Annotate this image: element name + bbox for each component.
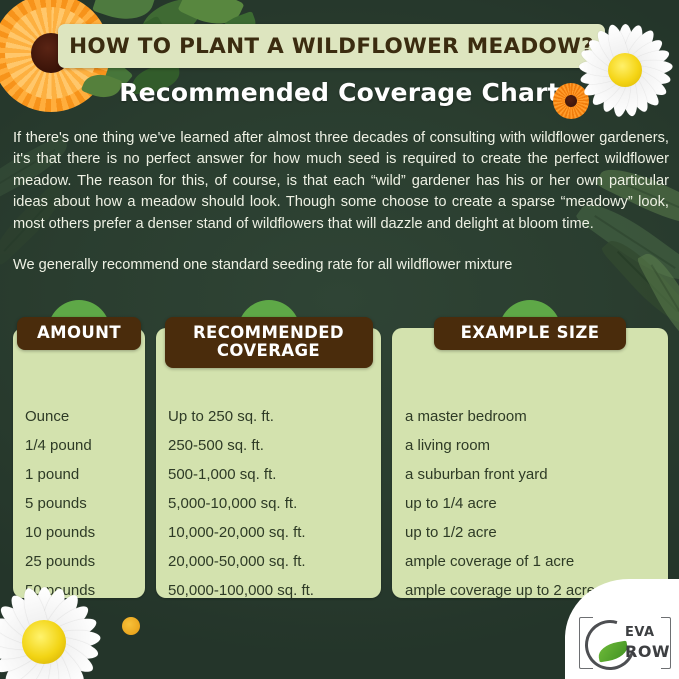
- table-cell: ample coverage of 1 acre: [405, 547, 656, 576]
- column-panel: a master bedroom a living room a suburba…: [392, 328, 668, 598]
- table-cell: 1/4 pound: [25, 431, 133, 460]
- infographic-root: HOW TO PLANT A WILDFLOWER MEADOW? Recomm…: [0, 0, 679, 679]
- table-cell: 10 pounds: [25, 518, 133, 547]
- column-cells: Up to 250 sq. ft. 250-500 sq. ft. 500-1,…: [156, 402, 381, 605]
- column-panel: Ounce 1/4 pound 1 pound 5 pounds 10 poun…: [13, 328, 145, 598]
- table-cell: Up to 250 sq. ft.: [168, 402, 369, 431]
- table-column-example: a master bedroom a living room a suburba…: [392, 300, 668, 598]
- table-column-coverage: Up to 250 sq. ft. 250-500 sq. ft. 500-1,…: [156, 300, 381, 598]
- intro-paragraph-1: If there's one thing we've learned after…: [13, 128, 669, 235]
- table-cell: 50 pounds: [25, 576, 133, 605]
- subtitle-row: Recommended Coverage Chart: [0, 78, 679, 107]
- table-cell: 10,000-20,000 sq. ft.: [168, 518, 369, 547]
- coverage-table: Ounce 1/4 pound 1 pound 5 pounds 10 poun…: [13, 300, 668, 598]
- intro-text: If there's one thing we've learned after…: [13, 128, 669, 276]
- logo-text-top: EVA: [625, 625, 655, 640]
- eva-grow-logo[interactable]: EVA ROW: [579, 617, 671, 669]
- table-cell: up to 1/4 acre: [405, 489, 656, 518]
- page-subtitle: Recommended Coverage Chart: [119, 78, 560, 107]
- column-panel: Up to 250 sq. ft. 250-500 sq. ft. 500-1,…: [156, 328, 381, 598]
- column-header-coverage: RECOMMENDED COVERAGE: [165, 317, 373, 368]
- logo-text-bottom: ROW: [625, 642, 670, 661]
- table-cell: 5,000-10,000 sq. ft.: [168, 489, 369, 518]
- column-cells: a master bedroom a living room a suburba…: [392, 402, 668, 605]
- table-cell: a suburban front yard: [405, 460, 656, 489]
- intro-paragraph-2: We generally recommend one standard seed…: [13, 255, 669, 276]
- table-cell: 25 pounds: [25, 547, 133, 576]
- table-cell: 50,000-100,000 sq. ft.: [168, 576, 369, 605]
- table-cell: a living room: [405, 431, 656, 460]
- table-cell: Ounce: [25, 402, 133, 431]
- page-title-bar: HOW TO PLANT A WILDFLOWER MEADOW?: [58, 24, 605, 68]
- column-cells: Ounce 1/4 pound 1 pound 5 pounds 10 poun…: [13, 402, 145, 605]
- table-cell: 500-1,000 sq. ft.: [168, 460, 369, 489]
- column-header-amount: AMOUNT: [17, 317, 141, 350]
- table-cell: up to 1/2 acre: [405, 518, 656, 547]
- table-cell: 5 pounds: [25, 489, 133, 518]
- page-title: HOW TO PLANT A WILDFLOWER MEADOW?: [69, 34, 594, 59]
- table-cell: 1 pound: [25, 460, 133, 489]
- table-cell: a master bedroom: [405, 402, 656, 431]
- table-column-amount: Ounce 1/4 pound 1 pound 5 pounds 10 poun…: [13, 300, 145, 598]
- table-cell: 250-500 sq. ft.: [168, 431, 369, 460]
- column-header-example: EXAMPLE SIZE: [434, 317, 626, 350]
- table-cell: 20,000-50,000 sq. ft.: [168, 547, 369, 576]
